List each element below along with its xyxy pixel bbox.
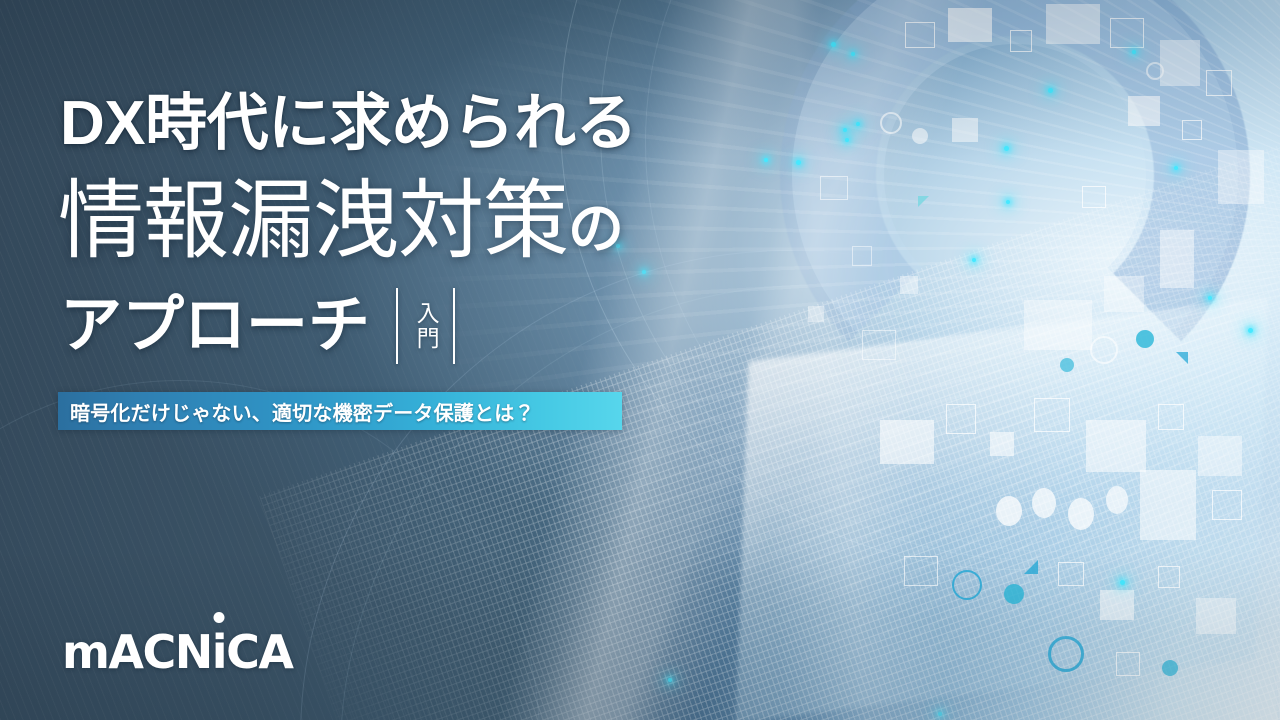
title-line-2-main: 情報漏洩対策	[58, 173, 568, 269]
title-line-1: DX時代に求められる	[60, 93, 637, 155]
title-line-2: 情報漏洩対策の	[58, 178, 624, 264]
intro-badge: 入門	[396, 288, 455, 364]
logo-part-i: i	[212, 625, 226, 679]
title-line-2-suffix: の	[568, 197, 624, 260]
title-line-3: アプローチ	[60, 295, 370, 357]
subtitle-text: 暗号化だけじゃない、適切な機密データ保護とは？	[70, 397, 535, 426]
subtitle-bar: 暗号化だけじゃない、適切な機密データ保護とは？	[58, 392, 622, 430]
macnica-logo: mACNiCA	[62, 625, 292, 679]
slide-canvas: DX時代に求められる 情報漏洩対策の アプローチ 入門 暗号化だけじゃない、適切…	[0, 0, 1280, 720]
logo-part-2: CA	[226, 625, 292, 679]
logo-part-1: mACN	[62, 625, 212, 679]
intro-badge-label: 入門	[412, 301, 439, 351]
slide-content: DX時代に求められる 情報漏洩対策の アプローチ 入門 暗号化だけじゃない、適切…	[0, 0, 1280, 720]
title-line-3-row: アプローチ 入門	[60, 288, 455, 364]
